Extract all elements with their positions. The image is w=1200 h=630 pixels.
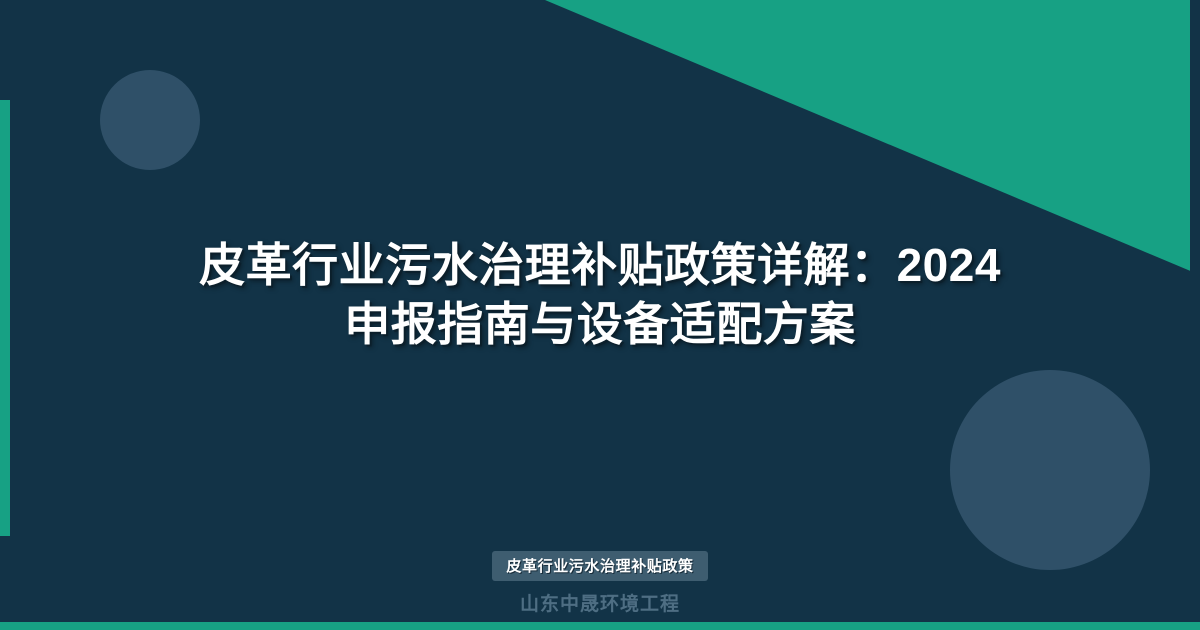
keyword-badge: 皮革行业污水治理补贴政策 [492, 551, 707, 581]
page-title-line-1: 皮革行业污水治理补贴政策详解：2024 [199, 236, 1001, 295]
cover-image-canvas: 皮革行业污水治理补贴政策详解：2024 申报指南与设备适配方案 皮革行业污水治理… [0, 0, 1200, 630]
footer-block: 皮革行业污水治理补贴政策 山东中晟环境工程 [0, 551, 1200, 616]
page-title-line-2: 申报指南与设备适配方案 [199, 295, 1001, 354]
title-block: 皮革行业污水治理补贴政策详解：2024 申报指南与设备适配方案 [0, 0, 1200, 630]
brand-watermark: 山东中晟环境工程 [520, 589, 680, 616]
page-title: 皮革行业污水治理补贴政策详解：2024 申报指南与设备适配方案 [199, 236, 1001, 354]
